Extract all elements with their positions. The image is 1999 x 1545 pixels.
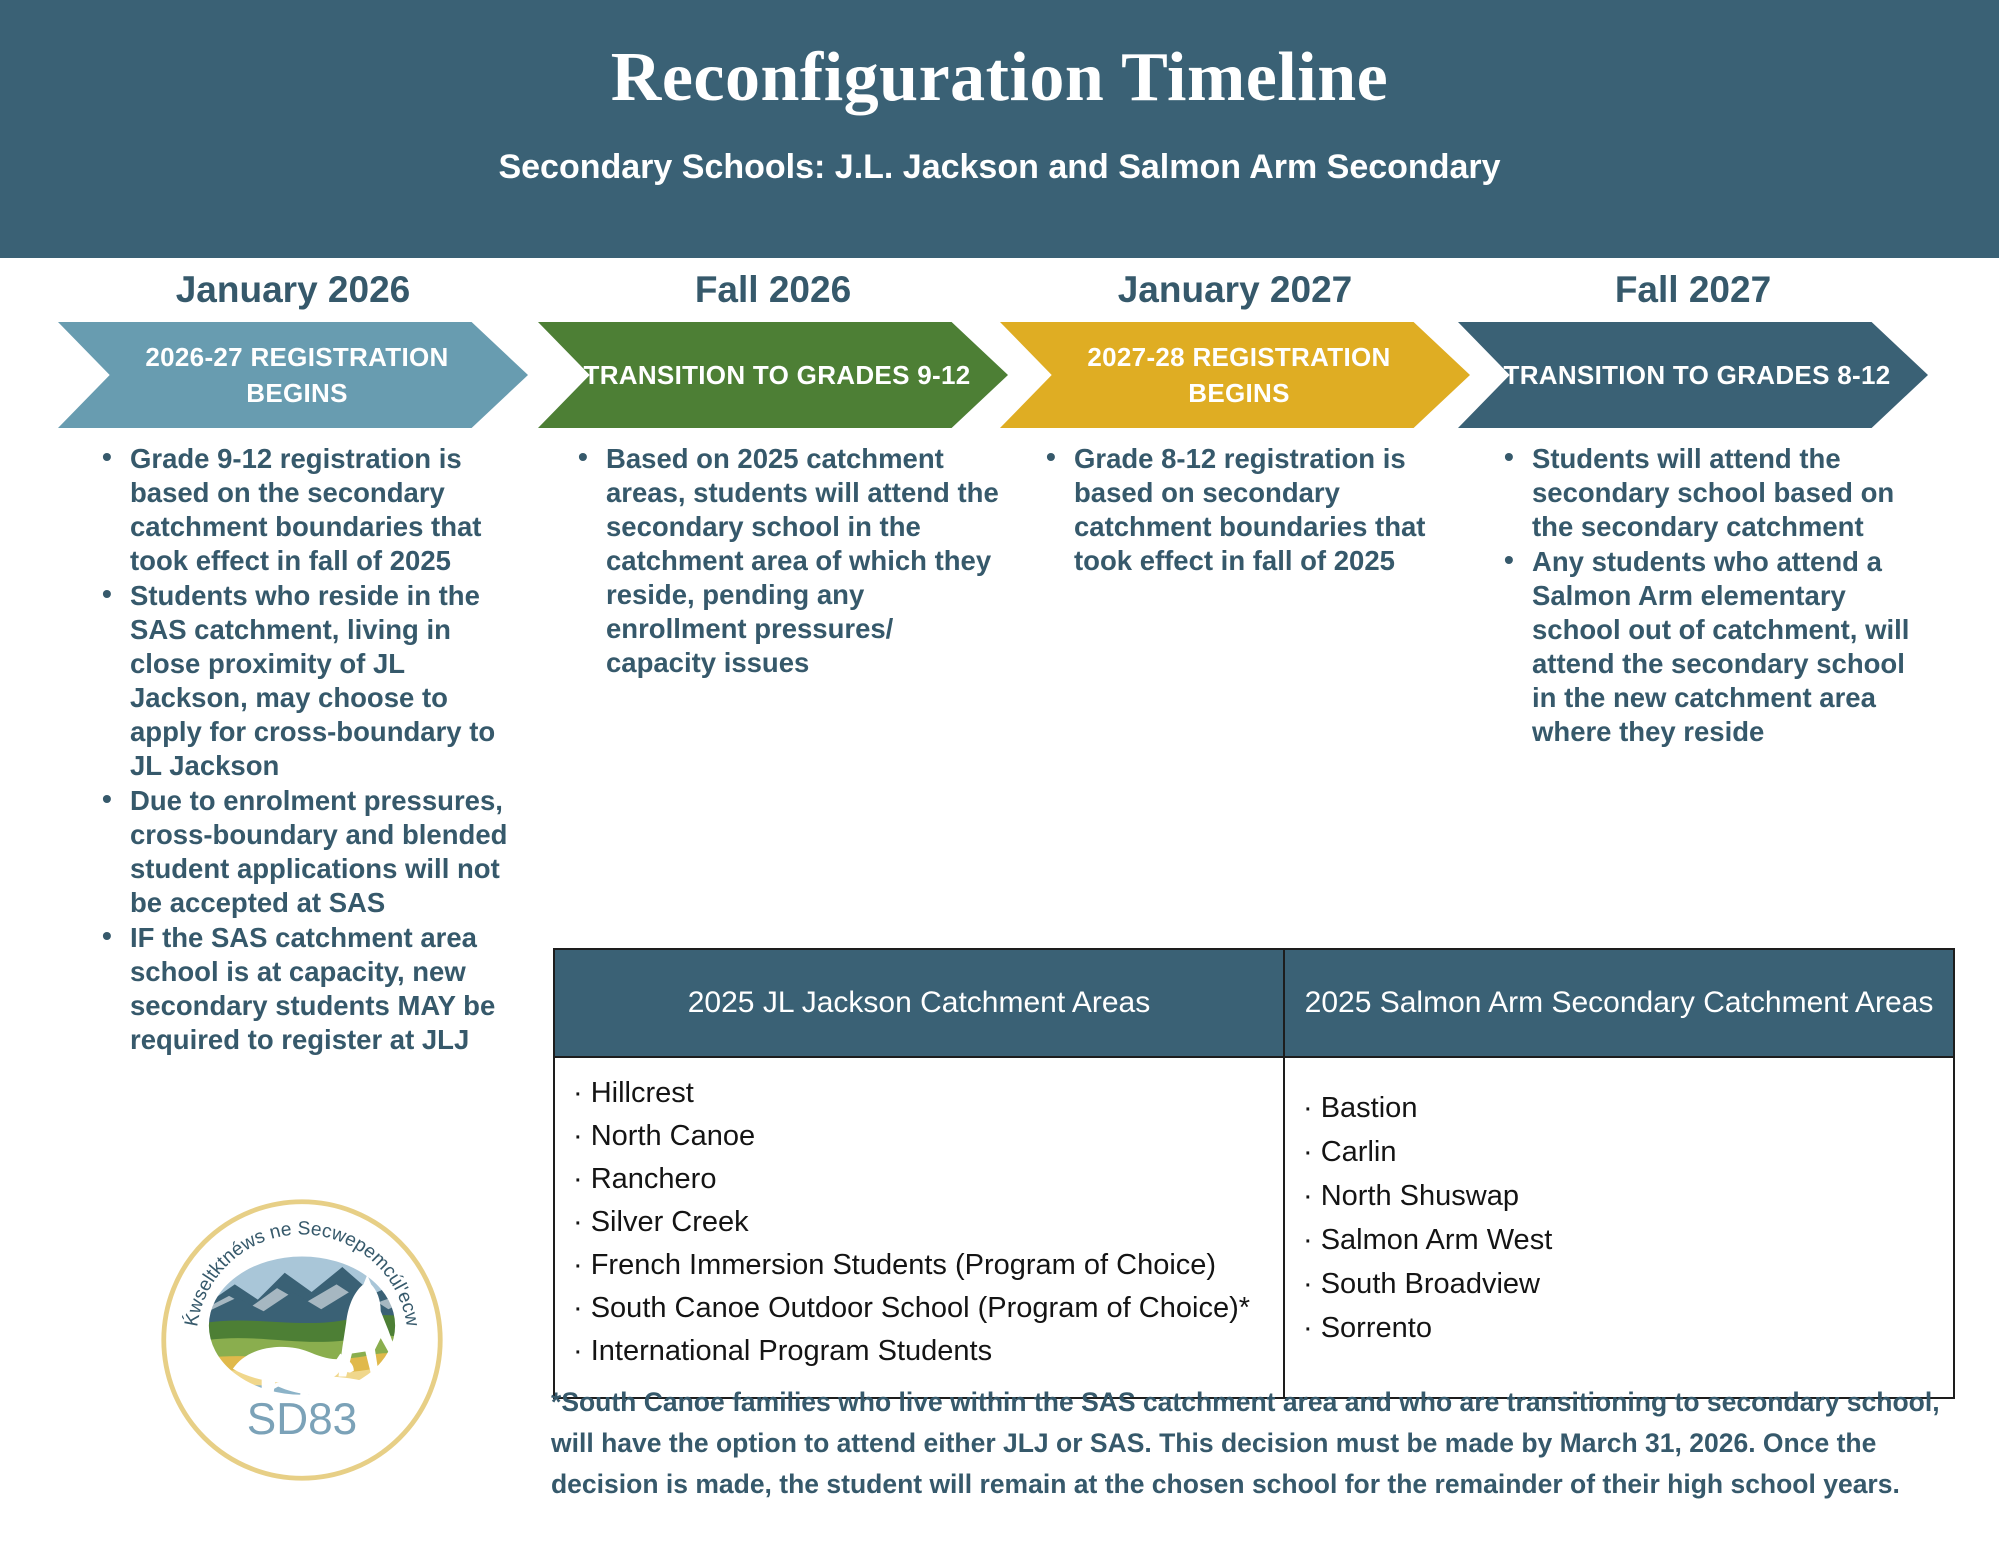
timeline-banner-arrow: TRANSITION TO GRADES 8-12 bbox=[1458, 322, 1928, 428]
timeline-banner-label: TRANSITION TO GRADES 9-12 bbox=[584, 357, 971, 393]
footnote-text: *South Canoe families who live within th… bbox=[551, 1382, 1955, 1505]
timeline-date-label: Fall 2026 bbox=[538, 266, 1008, 314]
timeline-banner-label: 2026-27 REGISTRATION BEGINS bbox=[92, 339, 502, 411]
list-item: · Salmon Arm West bbox=[1303, 1218, 1935, 1262]
list-item: · North Canoe bbox=[573, 1115, 1265, 1158]
list-item: Students will attend the secondary schoo… bbox=[1502, 442, 1922, 544]
timeline-banner-wrap: 2027-28 REGISTRATION BEGINS bbox=[1000, 322, 1470, 428]
timeline-banner-label: 2027-28 REGISTRATION BEGINS bbox=[1034, 339, 1444, 411]
list-item: Due to enrolment pressures, cross-bounda… bbox=[100, 784, 522, 920]
page-title: Reconfiguration Timeline bbox=[0, 38, 1999, 118]
timeline-banner-arrow: 2026-27 REGISTRATION BEGINS bbox=[58, 322, 528, 428]
list-item: Grade 9-12 registration is based on the … bbox=[100, 442, 522, 578]
salmon-arm-catchment-list: · Bastion · Carlin · North Shuswap · Sal… bbox=[1303, 1072, 1935, 1350]
timeline-banner-label: TRANSITION TO GRADES 8-12 bbox=[1504, 357, 1891, 393]
list-item: · Ranchero bbox=[573, 1158, 1265, 1201]
table-header-row: 2025 JL Jackson Catchment Areas 2025 Sal… bbox=[554, 949, 1954, 1057]
sd83-logo-icon: Ḱwseltktnéws ne Secwepemcúl'ecw SD83 bbox=[158, 1196, 446, 1484]
timeline-banner-wrap: TRANSITION TO GRADES 9-12 bbox=[538, 322, 1008, 428]
list-item: IF the SAS catchment area school is at c… bbox=[100, 921, 522, 1057]
timeline-section: January 2026 2026-27 REGISTRATION BEGINS… bbox=[0, 258, 1999, 898]
timeline-banner-arrow: TRANSITION TO GRADES 9-12 bbox=[538, 322, 1008, 428]
list-item: Students who reside in the SAS catchment… bbox=[100, 579, 522, 783]
timeline-column-january-2026: January 2026 2026-27 REGISTRATION BEGINS… bbox=[58, 258, 528, 1058]
page-header: Reconfiguration Timeline Secondary Schoo… bbox=[0, 0, 1999, 258]
timeline-column-january-2027: January 2027 2027-28 REGISTRATION BEGINS… bbox=[1000, 258, 1470, 579]
timeline-bullet-list: Students will attend the secondary schoo… bbox=[1458, 442, 1928, 749]
timeline-date-label: Fall 2027 bbox=[1458, 266, 1928, 314]
timeline-bullet-list: Grade 8-12 registration is based on seco… bbox=[1000, 442, 1470, 578]
logo-code-text: SD83 bbox=[247, 1395, 357, 1444]
timeline-bullet-list: Based on 2025 catchment areas, students … bbox=[538, 442, 1008, 680]
timeline-bullet-list: Grade 9-12 registration is based on the … bbox=[58, 442, 528, 1057]
catchment-areas-table: 2025 JL Jackson Catchment Areas 2025 Sal… bbox=[553, 948, 1955, 1399]
page-subtitle: Secondary Schools: J.L. Jackson and Salm… bbox=[0, 148, 1999, 187]
list-item: · Carlin bbox=[1303, 1130, 1935, 1174]
table-cell-salmon-arm-list: · Bastion · Carlin · North Shuswap · Sal… bbox=[1284, 1057, 1954, 1398]
timeline-banner-wrap: TRANSITION TO GRADES 8-12 bbox=[1458, 322, 1928, 428]
timeline-date-label: January 2026 bbox=[58, 266, 528, 314]
list-item: · South Canoe Outdoor School (Program of… bbox=[573, 1287, 1265, 1330]
table-header-jl-jackson: 2025 JL Jackson Catchment Areas bbox=[554, 949, 1284, 1057]
list-item: · Bastion bbox=[1303, 1086, 1935, 1130]
list-item: Grade 8-12 registration is based on seco… bbox=[1044, 442, 1464, 578]
list-item: · Sorrento bbox=[1303, 1306, 1935, 1350]
list-item: · North Shuswap bbox=[1303, 1174, 1935, 1218]
list-item: · South Broadview bbox=[1303, 1262, 1935, 1306]
timeline-column-fall-2026: Fall 2026 TRANSITION TO GRADES 9-12 Base… bbox=[538, 258, 1008, 681]
timeline-banner-arrow: 2027-28 REGISTRATION BEGINS bbox=[1000, 322, 1470, 428]
list-item: · International Program Students bbox=[573, 1330, 1265, 1373]
jl-jackson-catchment-list: · Hillcrest · North Canoe · Ranchero · S… bbox=[573, 1072, 1265, 1373]
list-item: · French Immersion Students (Program of … bbox=[573, 1244, 1265, 1287]
table-header-salmon-arm: 2025 Salmon Arm Secondary Catchment Area… bbox=[1284, 949, 1954, 1057]
timeline-date-label: January 2027 bbox=[1000, 266, 1470, 314]
list-item: · Silver Creek bbox=[573, 1201, 1265, 1244]
sd83-logo: Ḱwseltktnéws ne Secwepemcúl'ecw SD83 bbox=[158, 1196, 446, 1484]
list-item: Any students who attend a Salmon Arm ele… bbox=[1502, 545, 1922, 749]
table-row: · Hillcrest · North Canoe · Ranchero · S… bbox=[554, 1057, 1954, 1398]
timeline-column-fall-2027: Fall 2027 TRANSITION TO GRADES 8-12 Stud… bbox=[1458, 258, 1928, 750]
table-cell-jl-jackson-list: · Hillcrest · North Canoe · Ranchero · S… bbox=[554, 1057, 1284, 1398]
list-item: · Hillcrest bbox=[573, 1072, 1265, 1115]
timeline-banner-wrap: 2026-27 REGISTRATION BEGINS bbox=[58, 322, 528, 428]
list-item: Based on 2025 catchment areas, students … bbox=[576, 442, 1002, 680]
